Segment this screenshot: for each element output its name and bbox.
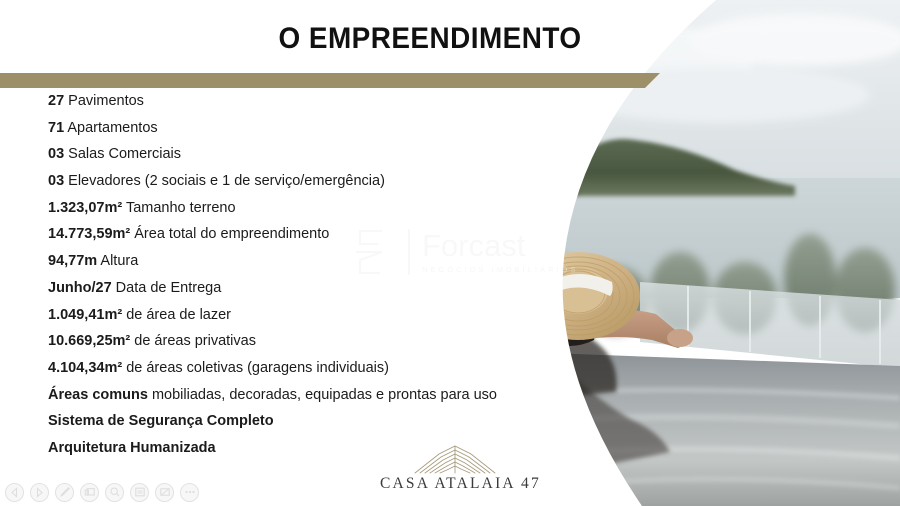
spec-item: Áreas comuns mobiliadas, decoradas, equi… <box>48 388 568 403</box>
spec-item: 1.049,41m² de área de lazer <box>48 308 568 323</box>
spec-item: 94,77m Altura <box>48 254 568 269</box>
spec-value: Áreas comuns <box>48 387 148 403</box>
spec-label: de área de lazer <box>122 307 231 323</box>
spec-value: 94,77m <box>48 253 97 269</box>
spec-value: 03 <box>48 146 64 162</box>
slide-title: O EMPREENDIMENTO <box>30 22 830 56</box>
spec-item: 03 Elevadores (2 sociais e 1 de serviço/… <box>48 174 568 189</box>
spec-value: 03 <box>48 173 64 189</box>
spec-value: 14.773,59m² <box>48 226 130 242</box>
pen-icon <box>59 486 71 498</box>
presentation-toolbar <box>0 478 900 506</box>
ellipsis-icon <box>183 486 197 498</box>
spec-label: Data de Entrega <box>112 280 222 296</box>
accent-bar <box>0 73 660 88</box>
spec-value: 1.049,41m² <box>48 307 122 323</box>
spec-label: Pavimentos <box>64 93 144 109</box>
spec-label: de áreas coletivas (garagens individuais… <box>122 360 389 376</box>
spec-label: Salas Comerciais <box>64 146 181 162</box>
spec-label: de áreas privativas <box>130 333 256 349</box>
more-options-button[interactable] <box>180 483 199 502</box>
presentation-slide: O EMPREENDIMENTO Forcast NEGÓCIOS IMOBIL… <box>0 0 900 506</box>
spec-value: 4.104,34m² <box>48 360 122 376</box>
magnifier-icon <box>109 486 121 498</box>
previous-slide-button[interactable] <box>5 483 24 502</box>
next-slide-button[interactable] <box>30 483 49 502</box>
mountain-lines-icon <box>409 444 501 474</box>
notes-button[interactable] <box>130 483 149 502</box>
spec-item: 03 Salas Comerciais <box>48 147 568 162</box>
spec-label: mobiliadas, decoradas, equipadas e pront… <box>148 387 497 403</box>
spec-item: 27 Pavimentos <box>48 94 568 109</box>
spec-label: Área total do empreendimento <box>130 226 329 242</box>
spec-label: Altura <box>97 253 138 269</box>
spec-item: 10.669,25m² de áreas privativas <box>48 334 568 349</box>
zoom-button[interactable] <box>105 483 124 502</box>
spec-item: Junho/27 Data de Entrega <box>48 281 568 296</box>
spec-item: Sistema de Segurança Completo <box>48 414 568 429</box>
spec-item: 4.104,34m² de áreas coletivas (garagens … <box>48 361 568 376</box>
specs-list: 27 Pavimentos71 Apartamentos03 Salas Com… <box>48 94 568 468</box>
spec-value: 1.323,07m² <box>48 200 122 216</box>
hide-slide-button[interactable] <box>155 483 174 502</box>
spec-label: Apartamentos <box>64 120 158 136</box>
spec-label: Tamanho terreno <box>122 200 235 216</box>
spec-value: 27 <box>48 93 64 109</box>
triangle-right-icon <box>34 487 45 498</box>
spec-item: 14.773,59m² Área total do empreendimento <box>48 227 568 242</box>
presentation-view-button[interactable] <box>80 483 99 502</box>
spec-item: 71 Apartamentos <box>48 121 568 136</box>
slideshow-icon <box>84 486 96 498</box>
spec-value: 71 <box>48 120 64 136</box>
spec-value: Junho/27 <box>48 280 112 296</box>
pen-tool-button[interactable] <box>55 483 74 502</box>
spec-value: Arquitetura Humanizada <box>48 440 216 456</box>
list-icon <box>134 486 146 498</box>
triangle-left-icon <box>9 487 20 498</box>
screen-off-icon <box>159 486 171 498</box>
spec-item: 1.323,07m² Tamanho terreno <box>48 201 568 216</box>
spec-value: Sistema de Segurança Completo <box>48 413 274 429</box>
spec-value: 10.669,25m² <box>48 333 130 349</box>
spec-label: Elevadores (2 sociais e 1 de serviço/eme… <box>64 173 385 189</box>
